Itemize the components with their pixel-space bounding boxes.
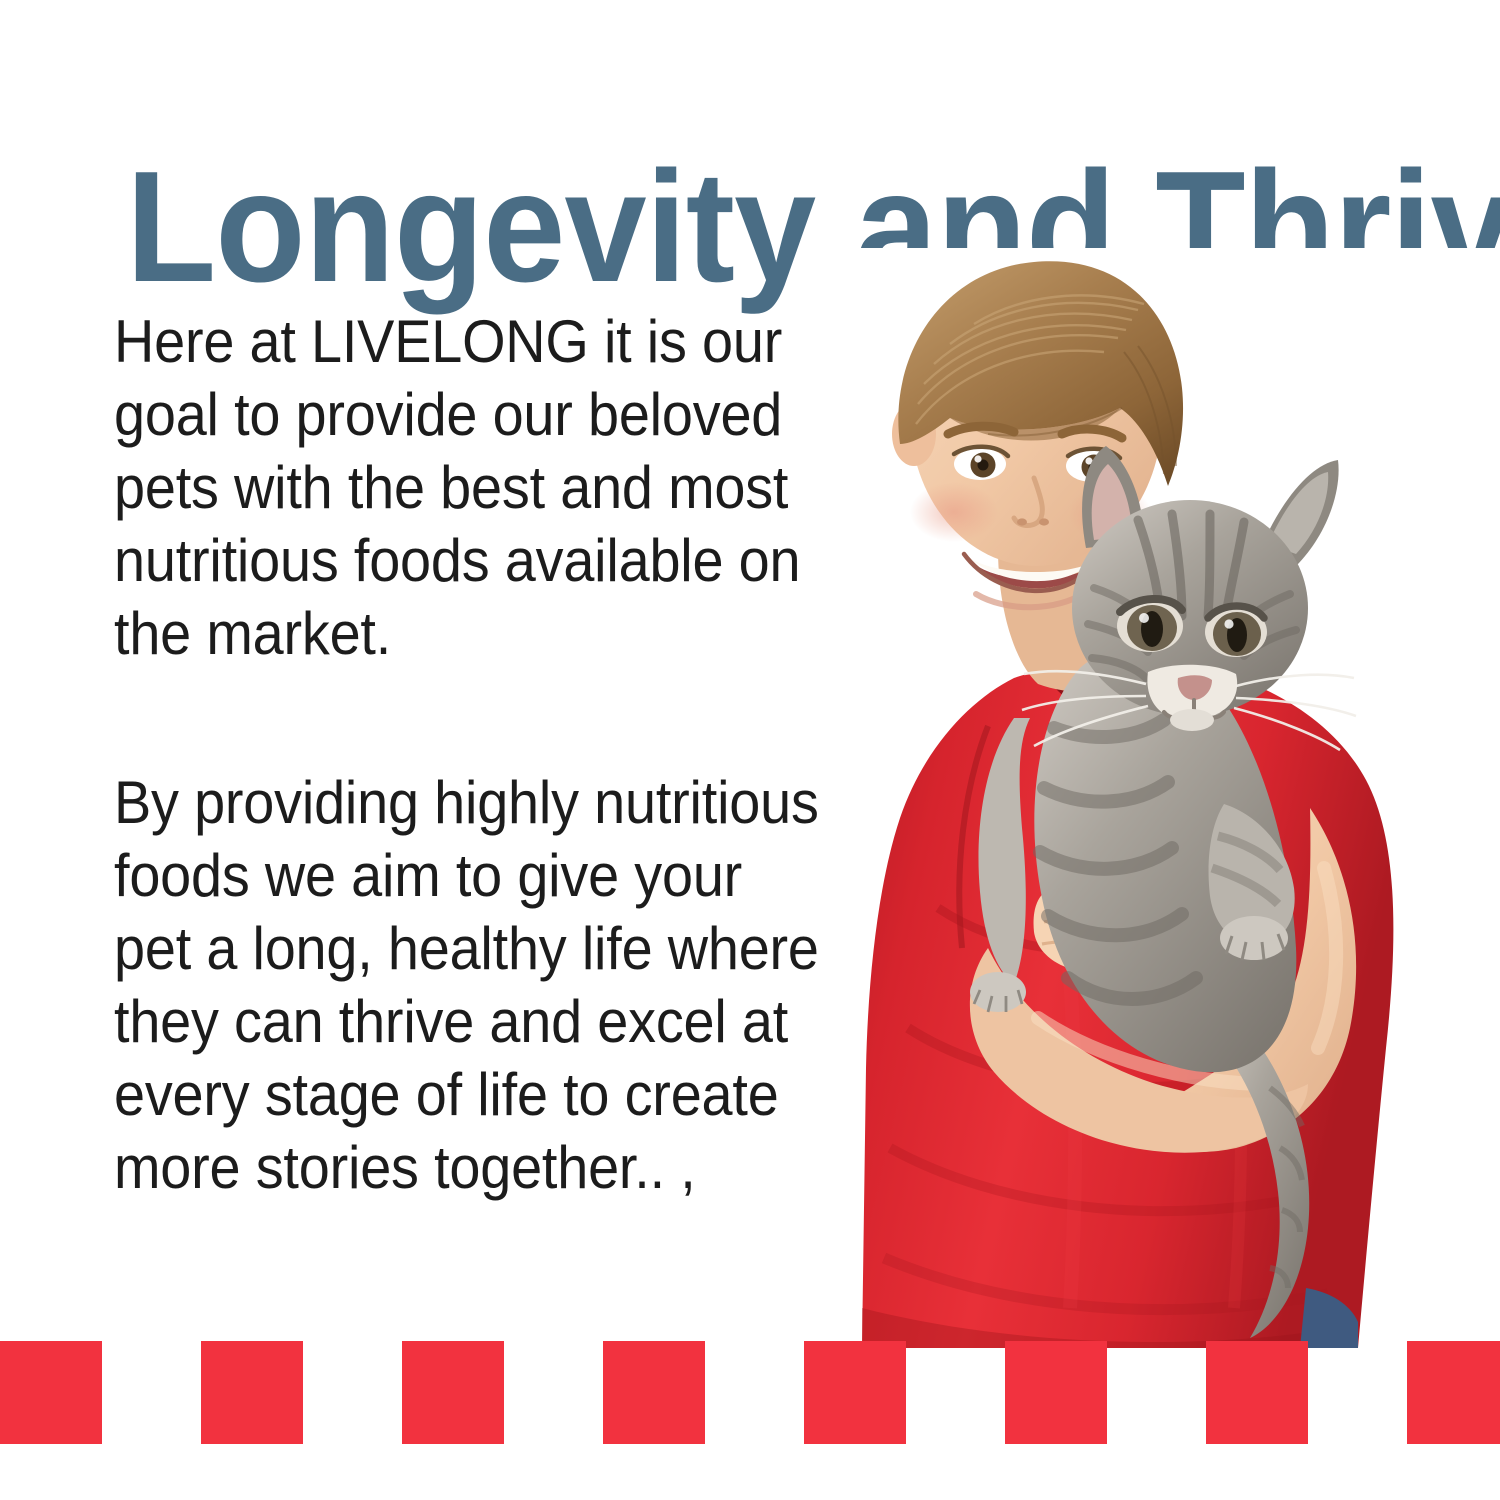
red-square	[603, 1341, 705, 1444]
red-square-strip	[0, 1341, 1500, 1444]
red-square	[0, 1341, 102, 1444]
body-copy: Here at LIVELONG it is our goal to provi…	[114, 305, 874, 1204]
boy-with-kitten-illustration	[838, 248, 1500, 1348]
paragraph-promise: By providing highly nutritious foods we …	[114, 766, 821, 1204]
poster-canvas: Longevity and Thriving Life Here at LIVE…	[0, 0, 1500, 1500]
paragraph-mission: Here at LIVELONG it is our goal to provi…	[114, 305, 821, 670]
red-square	[201, 1341, 303, 1444]
red-square	[804, 1341, 906, 1444]
red-square	[1005, 1341, 1107, 1444]
red-square	[1407, 1341, 1500, 1444]
red-square	[1206, 1341, 1308, 1444]
hero-photo-boy-with-kitten	[838, 248, 1500, 1348]
red-square	[402, 1341, 504, 1444]
